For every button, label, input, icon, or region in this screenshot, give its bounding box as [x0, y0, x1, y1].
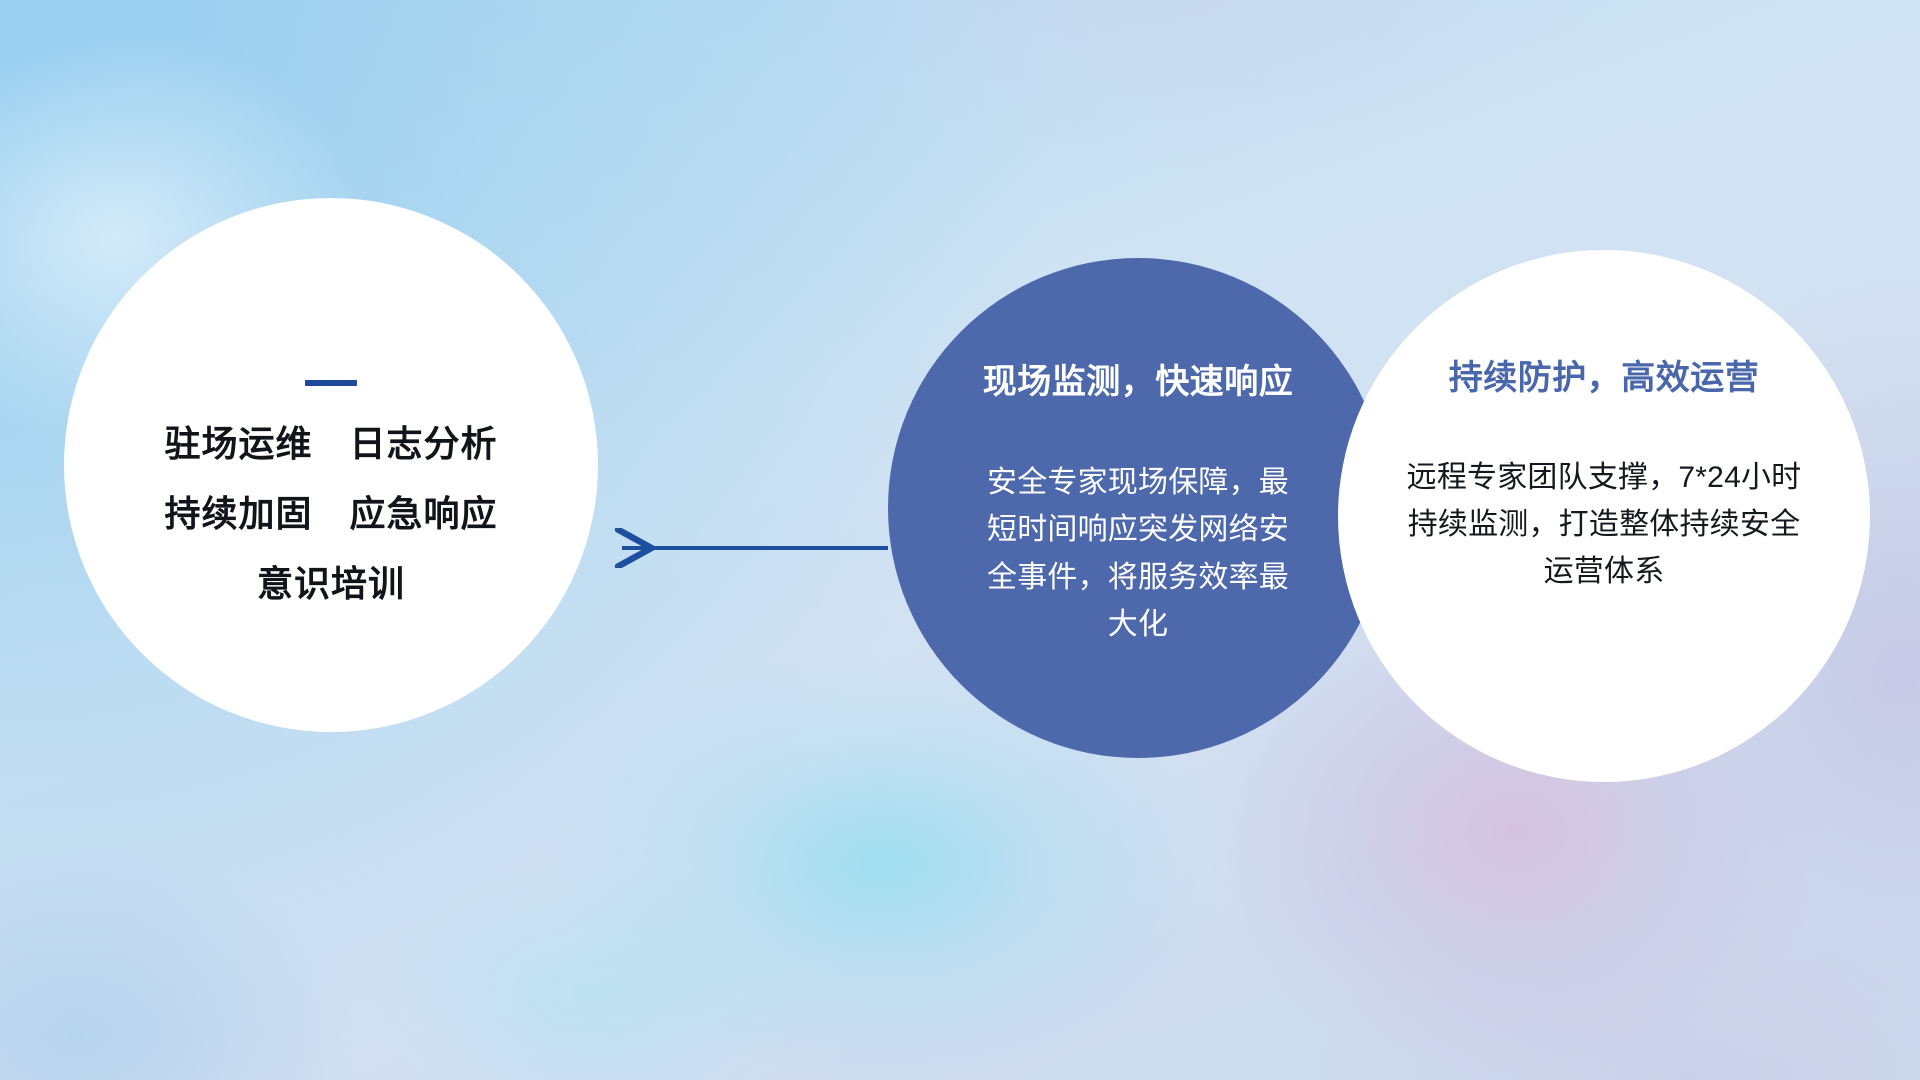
middle-circle-title: 现场监测，快速响应 [983, 354, 1294, 403]
left-circle-line-3: 意识培训 [257, 566, 405, 602]
left-circle-line-2: 持续加固 应急响应 [164, 496, 497, 532]
middle-circle-content: 现场监测，快速响应 安全专家现场保障，最短时间响应突发网络安全事件，将服务效率最… [888, 258, 1388, 758]
slide-canvas: 驻场运维 日志分析 持续加固 应急响应 意识培训 现场监测，快速响应 安全专家现… [0, 0, 1920, 1080]
left-circle-content: 驻场运维 日志分析 持续加固 应急响应 意识培训 [64, 198, 598, 732]
middle-circle-body: 安全专家现场保障，最短时间响应突发网络安全事件，将服务效率最大化 [973, 459, 1303, 649]
right-circle-body: 远程专家团队支撑，7*24小时持续监测，打造整体持续安全运营体系 [1399, 455, 1809, 595]
right-circle-title: 持续防护，高效运营 [1449, 350, 1760, 399]
arrow-connector [600, 520, 890, 576]
left-circle-line-1: 驻场运维 日志分析 [164, 426, 497, 462]
right-circle-content: 持续防护，高效运营 远程专家团队支撑，7*24小时持续监测，打造整体持续安全运营… [1338, 250, 1870, 782]
left-circle-divider [305, 380, 357, 386]
